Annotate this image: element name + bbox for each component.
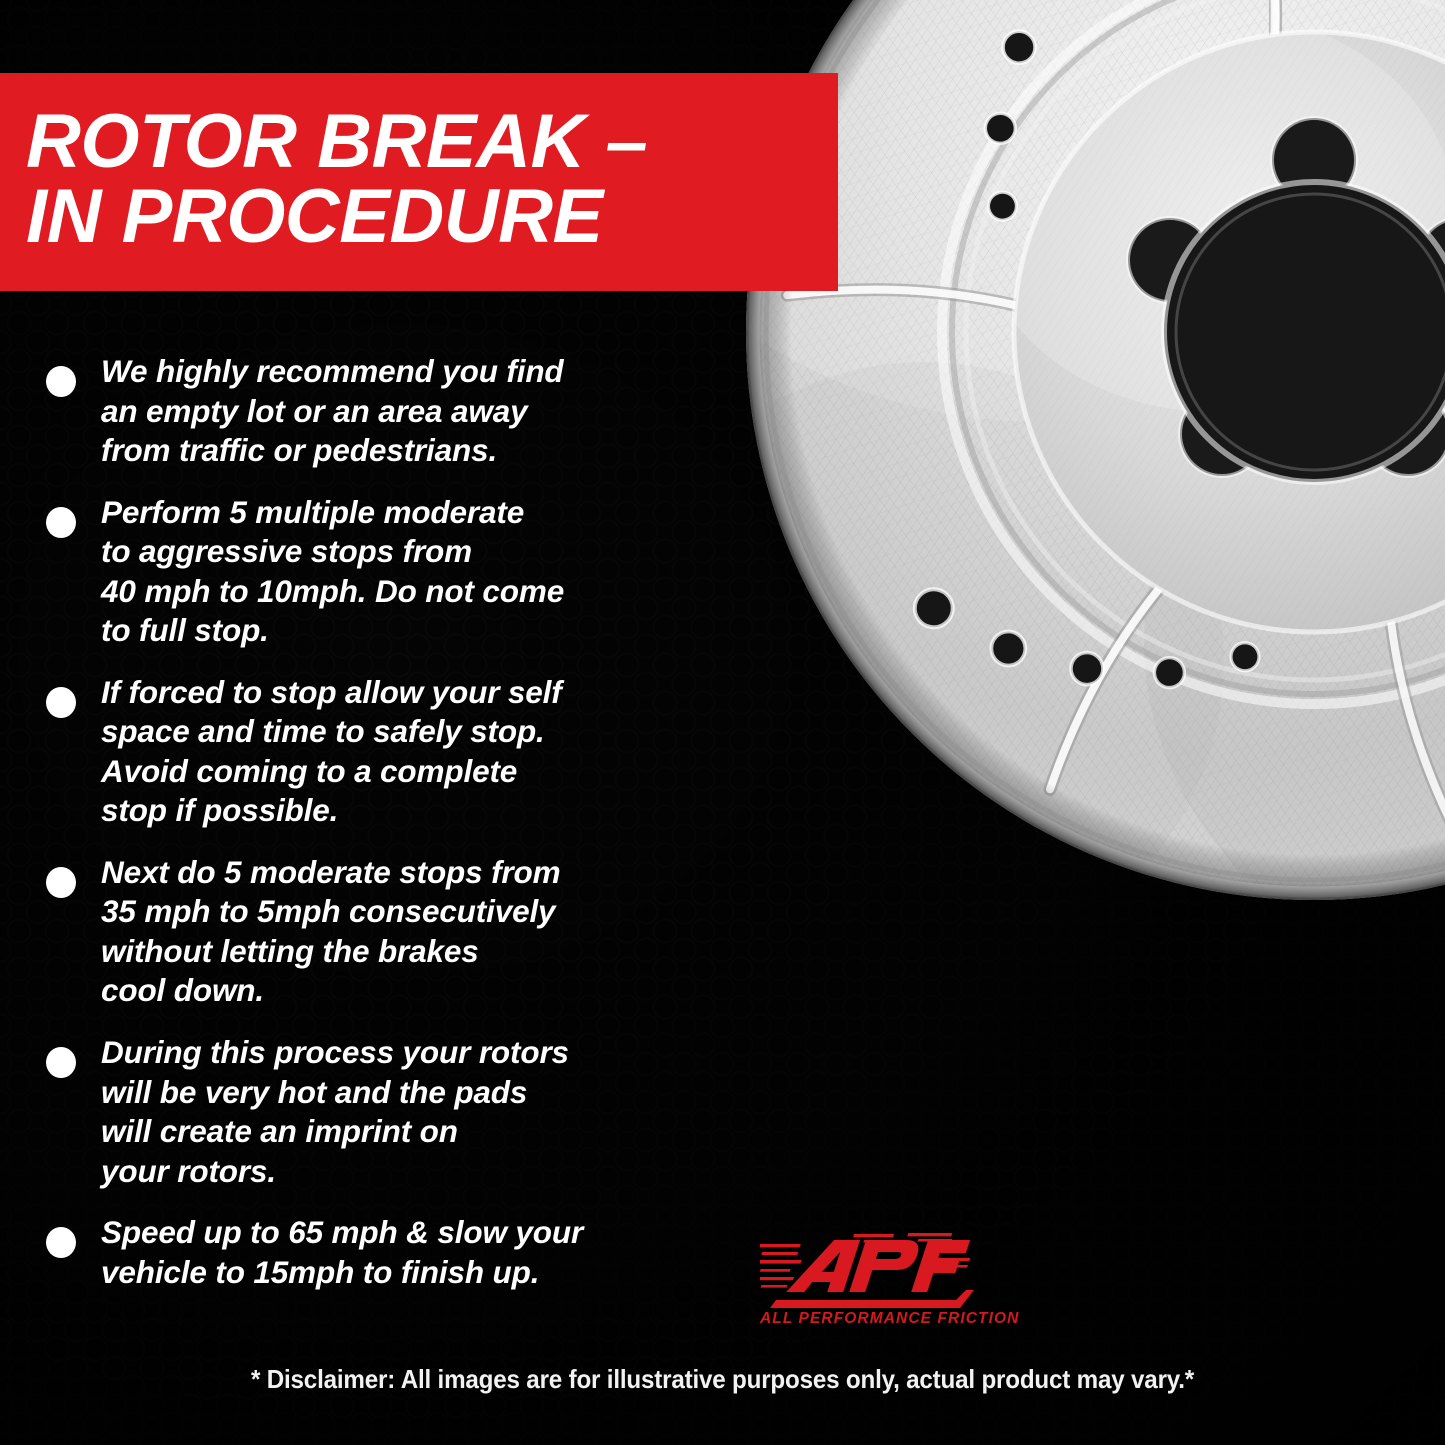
step-text: If forced to stop allow your self space … xyxy=(101,673,562,831)
step-text: Speed up to 65 mph & slow your vehicle t… xyxy=(101,1213,583,1292)
list-item: We highly recommend you find an empty lo… xyxy=(46,352,786,471)
list-item: Speed up to 65 mph & slow your vehicle t… xyxy=(46,1213,786,1292)
step-text: We highly recommend you find an empty lo… xyxy=(101,352,564,471)
page-title-line-1: ROTOR BREAK – xyxy=(26,104,812,179)
page-title-line-2: IN PROCEDURE xyxy=(26,179,812,254)
step-text: Next do 5 moderate stops from 35 mph to … xyxy=(101,853,561,1011)
bullet-dot-icon xyxy=(46,1047,76,1078)
list-item: If forced to stop allow your self space … xyxy=(46,673,786,831)
list-item: Next do 5 moderate stops from 35 mph to … xyxy=(46,853,786,1011)
list-item: During this process your rotors will be … xyxy=(46,1033,786,1191)
step-text: During this process your rotors will be … xyxy=(101,1033,569,1191)
apf-tagline: ALL PERFORMANCE FRICTION xyxy=(760,1310,990,1328)
bullet-dot-icon xyxy=(46,867,76,898)
bullet-dot-icon xyxy=(46,507,76,538)
title-banner: ROTOR BREAK – IN PROCEDURE xyxy=(0,73,838,291)
bullet-dot-icon xyxy=(46,687,76,718)
step-text: Perform 5 multiple moderate to aggressiv… xyxy=(101,493,564,651)
apf-wordmark-icon xyxy=(760,1228,990,1312)
procedure-step-list: We highly recommend you find an empty lo… xyxy=(46,352,786,1314)
list-item: Perform 5 multiple moderate to aggressiv… xyxy=(46,493,786,651)
infographic-canvas: ROTOR BREAK – IN PROCEDURE We highly rec… xyxy=(0,0,1445,1445)
apf-brand-logo: ALL PERFORMANCE FRICTION xyxy=(760,1228,990,1336)
disclaimer-text: * Disclaimer: All images are for illustr… xyxy=(51,1364,1395,1395)
bullet-dot-icon xyxy=(46,366,76,397)
bullet-dot-icon xyxy=(46,1227,76,1258)
